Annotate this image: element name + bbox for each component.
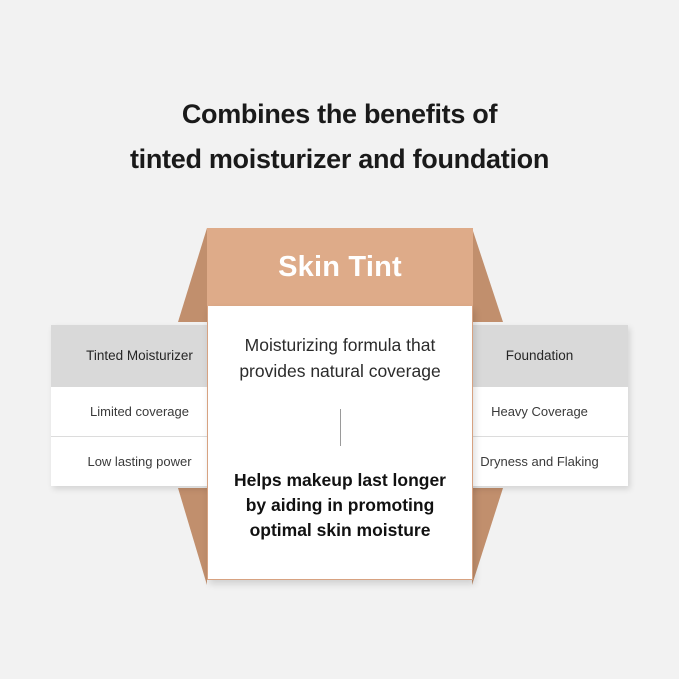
ribbon-wing-bottom-left xyxy=(178,488,207,585)
featured-card-body: Moisturizing formula that provides natur… xyxy=(207,306,473,580)
featured-card-skin-tint: Skin Tint Moisturizing formula that prov… xyxy=(207,228,473,580)
featured-description-line-1: Moisturizing formula that xyxy=(245,335,436,355)
comparison-card-tinted-moisturizer: Tinted Moisturizer Limited coverage Low … xyxy=(51,325,228,486)
page-title-line-2: tinted moisturizer and foundation xyxy=(0,137,679,182)
featured-card-title: Skin Tint xyxy=(207,228,473,306)
list-item: Heavy Coverage xyxy=(451,387,628,436)
page-title: Combines the benefits of tinted moisturi… xyxy=(0,92,679,182)
featured-benefit-line-2: by aiding in promoting xyxy=(246,495,435,515)
comparison-card-foundation: Foundation Heavy Coverage Dryness and Fl… xyxy=(451,325,628,486)
infographic-root: Combines the benefits of tinted moisturi… xyxy=(0,0,679,679)
ribbon-wing-top-right xyxy=(472,228,503,322)
featured-card-benefit: Helps makeup last longer by aiding in pr… xyxy=(208,468,472,543)
featured-benefit-line-3: optimal skin moisture xyxy=(250,520,431,540)
list-item: Limited coverage xyxy=(51,387,228,436)
ribbon-wing-bottom-right xyxy=(472,488,503,585)
list-item: Low lasting power xyxy=(51,436,228,486)
featured-description-line-2: provides natural coverage xyxy=(239,361,440,381)
featured-benefit-line-1: Helps makeup last longer xyxy=(234,470,446,490)
featured-card-description: Moisturizing formula that provides natur… xyxy=(208,332,472,384)
page-title-line-1: Combines the benefits of xyxy=(0,92,679,137)
card-title-foundation: Foundation xyxy=(451,325,628,387)
ribbon-wing-top-left xyxy=(178,228,207,322)
vertical-divider xyxy=(340,409,341,446)
card-title-tinted-moisturizer: Tinted Moisturizer xyxy=(51,325,228,387)
list-item: Dryness and Flaking xyxy=(451,436,628,486)
